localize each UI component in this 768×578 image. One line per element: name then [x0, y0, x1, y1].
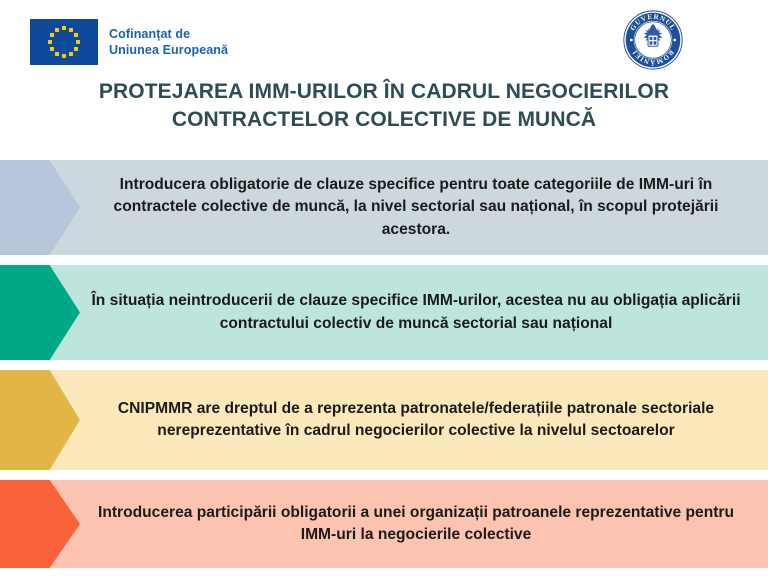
- list-item-text: Introducera obligatorie de clauze specif…: [0, 174, 768, 240]
- eu-star-icon: [62, 26, 66, 30]
- eu-star-icon: [55, 52, 59, 56]
- list-item: CNIPMMR are dreptul de a reprezenta patr…: [0, 370, 768, 470]
- page-title-line1: PROTEJAREA IMM-URILOR ÎN CADRUL NEGOCIER…: [44, 78, 724, 106]
- page-title-line2: CONTRACTELOR COLECTIVE DE MUNCĂ: [44, 106, 724, 134]
- eu-star-icon: [50, 47, 54, 51]
- list-item-text: CNIPMMR are dreptul de a reprezenta patr…: [0, 398, 768, 442]
- eu-star-icon: [69, 52, 73, 56]
- page-title: PROTEJAREA IMM-URILOR ÎN CADRUL NEGOCIER…: [44, 78, 724, 134]
- eu-logo-line2: Uniunea Europeană: [109, 42, 228, 59]
- eu-star-icon: [74, 33, 78, 37]
- eu-logo-line1: Cofinanțat de: [109, 26, 228, 43]
- eu-flag-icon: [30, 19, 98, 65]
- list-item-text: Introducerea participării obligatorii a …: [0, 502, 768, 546]
- header: Cofinanțat de Uniunea Europeană GUVERNUL…: [0, 0, 768, 78]
- points-list: Introducera obligatorie de clauze specif…: [0, 160, 768, 578]
- list-item-text: În situația neintroducerii de clauze spe…: [0, 290, 768, 334]
- eu-star-icon: [55, 28, 59, 32]
- arrow-marker-icon: [0, 480, 80, 568]
- romanian-government-seal-icon: GUVERNUL ROMÂNIEI: [622, 9, 684, 71]
- eu-star-icon: [74, 47, 78, 51]
- list-item: În situația neintroducerii de clauze spe…: [0, 265, 768, 360]
- eu-star-icon: [48, 40, 52, 44]
- eu-logo-text: Cofinanțat de Uniunea Europeană: [109, 26, 228, 59]
- list-item: Introducerea participării obligatorii a …: [0, 480, 768, 568]
- arrow-marker-icon: [0, 370, 80, 470]
- eu-star-icon: [76, 40, 80, 44]
- arrow-marker-icon: [0, 265, 80, 360]
- list-item: Introducera obligatorie de clauze specif…: [0, 160, 768, 255]
- eu-star-icon: [50, 33, 54, 37]
- eu-star-icon: [69, 28, 73, 32]
- eu-cofinancing-logo: Cofinanțat de Uniunea Europeană: [30, 19, 228, 65]
- eu-star-icon: [62, 54, 66, 58]
